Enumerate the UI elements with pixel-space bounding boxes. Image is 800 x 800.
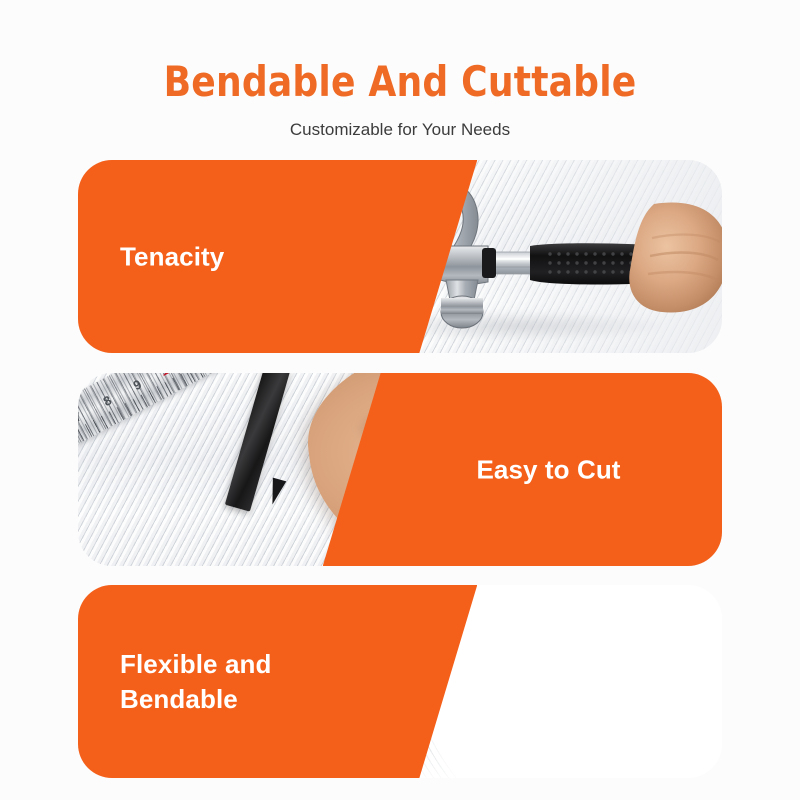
page-subtitle: Customizable for Your Needs xyxy=(0,118,800,142)
header: Bendable And Cuttable Customizable for Y… xyxy=(0,0,800,150)
feature-card-easy-to-cut: 6 7 8 9 10 11 12 13 14 15 Easy to Cut xyxy=(78,373,722,566)
card-label: Easy to Cut xyxy=(476,452,620,487)
card-label-panel: Tenacity xyxy=(78,160,477,353)
feature-card-flexible-bendable: Flexible and Bendable xyxy=(78,585,722,778)
page-title: Bendable And Cuttable xyxy=(56,58,744,106)
feature-card-tenacity: Tenacity xyxy=(78,160,722,353)
card-label: Tenacity xyxy=(120,239,224,274)
card-label-panel: Easy to Cut xyxy=(323,373,722,566)
card-label-panel: Flexible and Bendable xyxy=(78,585,477,778)
card-label: Flexible and Bendable xyxy=(120,647,271,717)
